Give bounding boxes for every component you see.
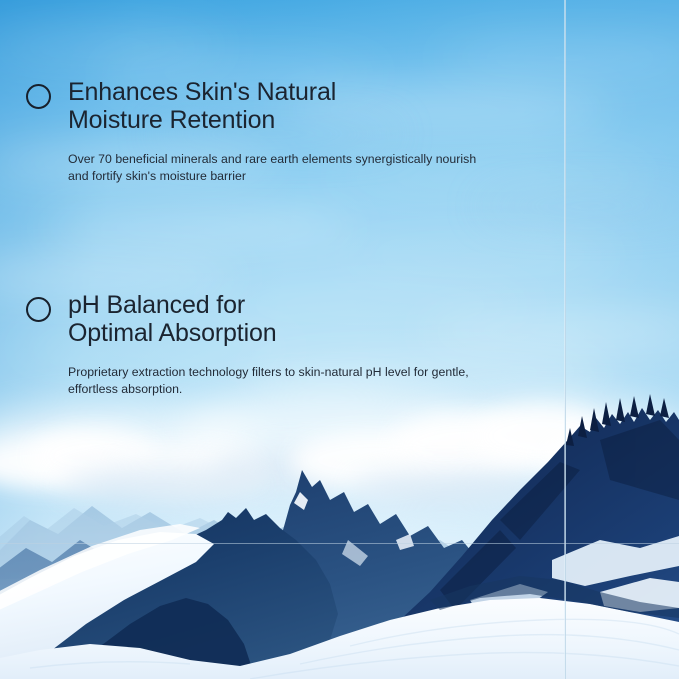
benefit-item-ph-balanced: pH Balanced for Optimal Absorption Propr… bbox=[26, 291, 586, 399]
circle-outline-icon bbox=[26, 84, 51, 109]
benefits-content: Enhances Skin's Natural Moisture Retenti… bbox=[0, 0, 679, 679]
benefit-item-moisture-retention: Enhances Skin's Natural Moisture Retenti… bbox=[26, 78, 586, 186]
benefit-description: Over 70 beneficial minerals and rare ear… bbox=[68, 151, 568, 186]
product-benefits-image: Enhances Skin's Natural Moisture Retenti… bbox=[0, 0, 679, 679]
circle-outline-icon bbox=[26, 297, 51, 322]
benefit-description: Proprietary extraction technology filter… bbox=[68, 364, 568, 399]
benefit-title: pH Balanced for Optimal Absorption bbox=[68, 291, 586, 347]
benefit-title: Enhances Skin's Natural Moisture Retenti… bbox=[68, 78, 586, 134]
